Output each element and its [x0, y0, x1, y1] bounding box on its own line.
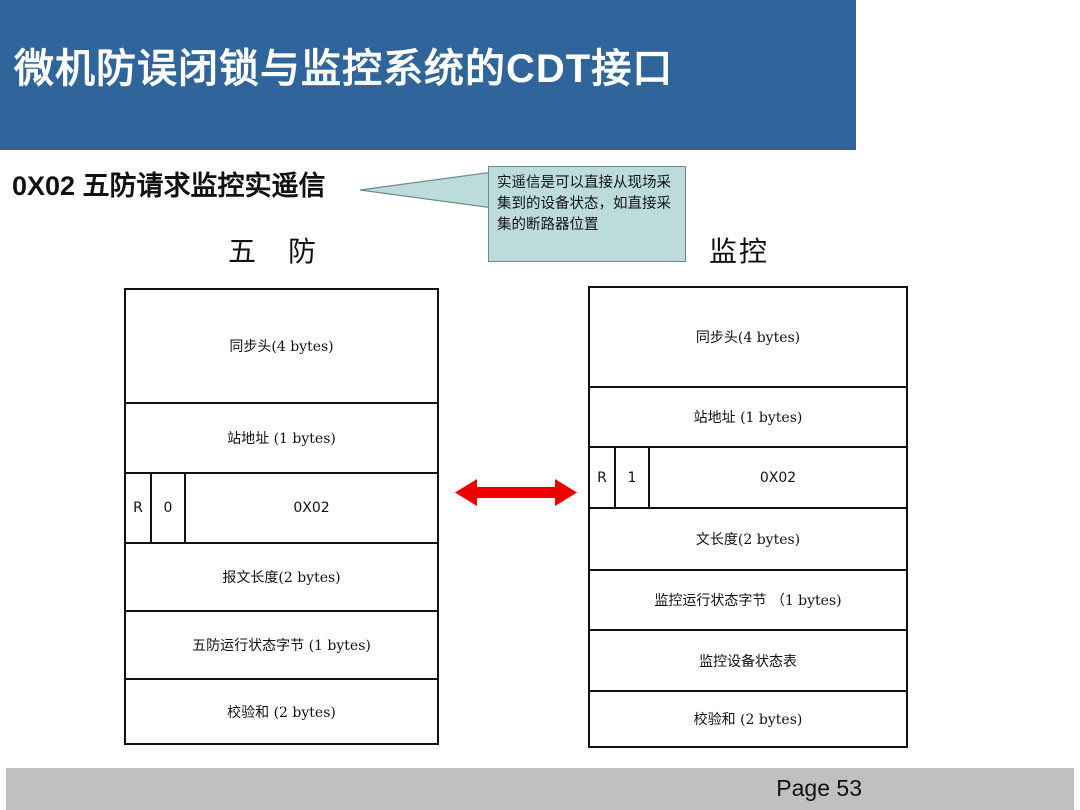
right-frame-cell-bit: 1 [616, 448, 650, 507]
left-frame-row-label: 校验和 (2 bytes) [227, 702, 336, 722]
right-frame-row-label: 监控运行状态字节 （1 bytes) [654, 590, 841, 610]
right-frame-row: 同步头(4 bytes) [590, 288, 906, 388]
left-frame-cell-bit: 0 [152, 474, 186, 542]
right-frame-row: 监控运行状态字节 （1 bytes) [590, 571, 906, 631]
page-number: Page 53 [776, 775, 862, 802]
left-frame-cell-r-label: R [133, 500, 143, 516]
right-frame-cell-code-label: 0X02 [760, 470, 796, 486]
callout-box: 实遥信是可以直接从现场采集到的设备状态，如直接采集的断路器位置 [488, 166, 686, 262]
right-frame-row-label: 监控设备状态表 [699, 651, 797, 671]
page-title: 微机防误闭锁与监控系统的CDT接口 [14, 36, 673, 94]
right-frame-cell-r-label: R [597, 470, 607, 486]
right-frame-row: R10X02 [590, 448, 906, 509]
callout-tail-icon [360, 170, 495, 210]
right-frame-row-label: 站地址 (1 bytes) [694, 407, 803, 427]
left-frame-row-label: 报文长度(2 bytes) [222, 567, 340, 587]
right-column-header: 监控 [709, 230, 769, 270]
right-frame-row-label: 同步头(4 bytes) [696, 327, 800, 347]
right-frame-cell-bit-label: 1 [628, 470, 637, 486]
footer-bar [6, 768, 1074, 810]
bidirectional-arrow-icon [455, 472, 577, 514]
section-subtitle: 0X02 五防请求监控实遥信 [12, 164, 326, 203]
right-frame-row: 站地址 (1 bytes) [590, 388, 906, 448]
right-frame-table: 同步头(4 bytes)站地址 (1 bytes)R10X02文长度(2 byt… [588, 286, 908, 748]
left-frame-row: 站地址 (1 bytes) [126, 404, 437, 474]
right-frame-row-label: 文长度(2 bytes) [696, 529, 800, 549]
left-frame-row: R00X02 [126, 474, 437, 544]
left-frame-row: 同步头(4 bytes) [126, 290, 437, 404]
left-frame-row: 报文长度(2 bytes) [126, 544, 437, 612]
right-frame-row: 校验和 (2 bytes) [590, 692, 906, 746]
right-frame-cell-code: 0X02 [650, 448, 906, 507]
right-frame-cell-r: R [590, 448, 616, 507]
slide-root: 微机防误闭锁与监控系统的CDT接口 0X02 五防请求监控实遥信 实遥信是可以直… [0, 0, 1080, 810]
left-frame-row-label: 五防运行状态字节 (1 bytes) [192, 635, 371, 655]
left-column-header: 五 防 [228, 230, 318, 270]
right-frame-row: 文长度(2 bytes) [590, 509, 906, 571]
left-frame-row-label: 同步头(4 bytes) [229, 336, 333, 356]
left-frame-cell-code: 0X02 [186, 474, 437, 542]
callout-text: 实遥信是可以直接从现场采集到的设备状态，如直接采集的断路器位置 [497, 173, 681, 236]
left-frame-row: 五防运行状态字节 (1 bytes) [126, 612, 437, 680]
left-frame-row: 校验和 (2 bytes) [126, 680, 437, 743]
right-frame-row: 监控设备状态表 [590, 631, 906, 692]
right-frame-row-label: 校验和 (2 bytes) [694, 709, 803, 729]
left-frame-cell-r: R [126, 474, 152, 542]
left-frame-cell-code-label: 0X02 [293, 500, 329, 516]
left-frame-table: 同步头(4 bytes)站地址 (1 bytes)R00X02报文长度(2 by… [124, 288, 439, 745]
left-frame-cell-bit-label: 0 [164, 500, 173, 516]
left-frame-row-label: 站地址 (1 bytes) [227, 428, 336, 448]
